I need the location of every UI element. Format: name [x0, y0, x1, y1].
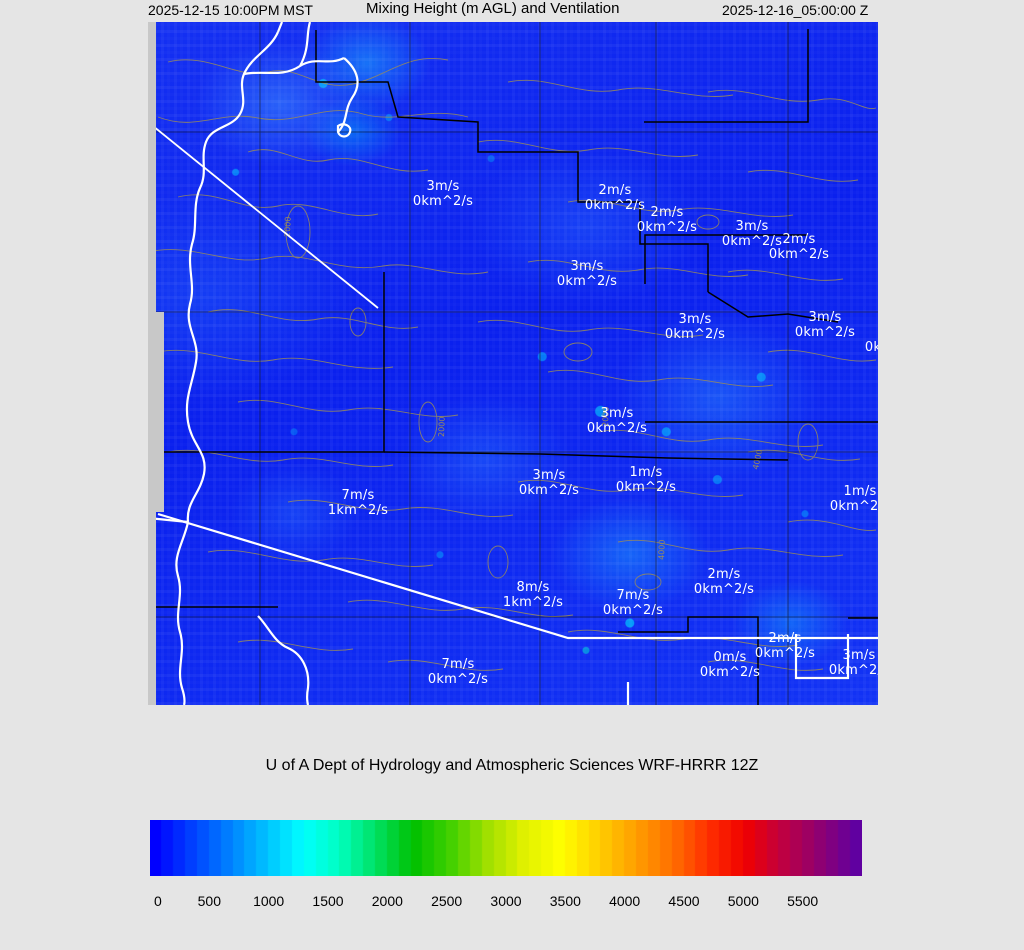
ventilation-value: 0km^2/s — [616, 480, 676, 495]
ventilation-value: 0km^2/s — [519, 483, 579, 498]
observation-label: 7m/s0km^2/s — [603, 588, 663, 618]
observation-label: 1m/s0km^2/s — [616, 465, 676, 495]
wind-speed-value: 3m/s — [795, 310, 855, 325]
wind-speed-value: 0m/s — [700, 650, 760, 665]
ventilation-value: 0km^2/s — [830, 499, 878, 514]
ventilation-value: 0km^2/s — [795, 325, 855, 340]
observation-label: 2m/s0km^2/s — [637, 205, 697, 235]
colorbar — [150, 820, 862, 876]
wind-speed-value: 2m/s — [755, 631, 815, 646]
wind-speed-value: 3m/s — [413, 179, 473, 194]
wind-speed-value: 3m/s — [587, 406, 647, 421]
wind-speed-value: 3m/s — [557, 259, 617, 274]
wind-speed-value: 7m/s — [603, 588, 663, 603]
ventilation-value: 0km^2/s — [587, 421, 647, 436]
svg-text:2000: 2000 — [437, 416, 447, 437]
colorbar-tick: 1000 — [253, 893, 284, 909]
observation-label: 3m/s0km^2/s — [557, 259, 617, 289]
observation-label: 3m/s0km^2/s — [665, 312, 725, 342]
page-title: Mixing Height (m AGL) and Ventilation — [366, 0, 619, 18]
observation-label: 1m/s0km^2/s — [830, 484, 878, 514]
ventilation-value: 0km^2/s — [637, 220, 697, 235]
wind-speed-value: 3m/s — [665, 312, 725, 327]
wind-speed-value: 1m/s — [865, 325, 878, 340]
wind-speed-value: 2m/s — [637, 205, 697, 220]
source-caption: U of A Dept of Hydrology and Atmospheric… — [0, 757, 1024, 775]
colorbar-tick: 5000 — [728, 893, 759, 909]
wind-speed-value: 1m/s — [616, 465, 676, 480]
ventilation-value: 0km^2/s — [700, 665, 760, 680]
observation-label: 3m/s0km^2/s — [519, 468, 579, 498]
wind-speed-value: 2m/s — [694, 567, 754, 582]
ventilation-value: 0km^2/s — [829, 663, 878, 678]
colorbar-tick: 5500 — [787, 893, 818, 909]
observation-label: 3m/s0km^2/s — [587, 406, 647, 436]
colorbar-tick: 2000 — [372, 893, 403, 909]
observation-label: 1m/s0km^2/s — [865, 325, 878, 355]
wind-speed-value: 1m/s — [830, 484, 878, 499]
wind-speed-value: 3m/s — [829, 648, 878, 663]
observation-label: 3m/s0km^2/s — [413, 179, 473, 209]
observation-label: 7m/s1km^2/s — [328, 488, 388, 518]
observation-label: 2m/s0km^2/s — [755, 631, 815, 661]
observation-label: 7m/s0km^2/s — [428, 657, 488, 687]
mixing-height-map[interactable]: 2000 2000 2000 4000 4000 — [148, 22, 878, 705]
wind-speed-value: 8m/s — [503, 580, 563, 595]
valid-time-local: 2025-12-15 10:00PM MST — [148, 1, 313, 19]
ventilation-value: 0km^2/s — [665, 327, 725, 342]
ventilation-value: 1km^2/s — [503, 595, 563, 610]
ventilation-value: 0km^2/s — [865, 340, 878, 355]
colorbar-tick: 3500 — [550, 893, 581, 909]
observation-label: 0m/s0km^2/s — [700, 650, 760, 680]
colorbar-tick: 3000 — [490, 893, 521, 909]
colorbar-tick: 500 — [198, 893, 221, 909]
ventilation-value: 0km^2/s — [557, 274, 617, 289]
colorbar-tick: 4000 — [609, 893, 640, 909]
wind-speed-value: 3m/s — [519, 468, 579, 483]
terrain-contours — [148, 58, 876, 670]
ventilation-value: 0km^2/s — [769, 247, 829, 262]
observation-label: 3m/s0km^2/s — [795, 310, 855, 340]
header-bar: 2025-12-15 10:00PM MST Mixing Height (m … — [0, 0, 1024, 22]
valid-time-utc: 2025-12-16_05:00:00 Z — [722, 1, 868, 19]
colorbar-tick-labels: 0500100015002000250030003500400045005000… — [150, 893, 862, 917]
wind-speed-value: 2m/s — [769, 232, 829, 247]
colorbar-tick: 1500 — [312, 893, 343, 909]
ventilation-value: 1km^2/s — [328, 503, 388, 518]
svg-text:4000: 4000 — [657, 539, 667, 560]
map-left-margin-notch — [148, 312, 164, 512]
ventilation-value: 0km^2/s — [755, 646, 815, 661]
ventilation-value: 0km^2/s — [413, 194, 473, 209]
colorbar-tick: 4500 — [668, 893, 699, 909]
ventilation-value: 0km^2/s — [603, 603, 663, 618]
ventilation-value: 0km^2/s — [694, 582, 754, 597]
colorbar-gradient — [150, 820, 862, 876]
observation-label: 2m/s0km^2/s — [694, 567, 754, 597]
observation-label: 2m/s0km^2/s — [769, 232, 829, 262]
wind-speed-value: 7m/s — [428, 657, 488, 672]
wind-speed-value: 2m/s — [585, 183, 645, 198]
colorbar-tick: 0 — [154, 893, 162, 909]
ventilation-value: 0km^2/s — [428, 672, 488, 687]
observation-label: 3m/s0km^2/s — [829, 648, 878, 678]
wind-speed-value: 7m/s — [328, 488, 388, 503]
colorbar-tick: 2500 — [431, 893, 462, 909]
observation-label: 8m/s1km^2/s — [503, 580, 563, 610]
